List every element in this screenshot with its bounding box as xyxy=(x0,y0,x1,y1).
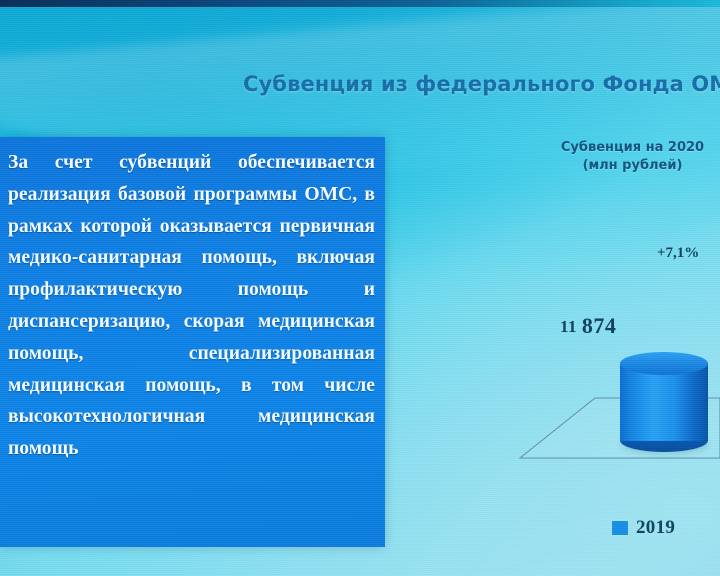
chart-bar-2019 xyxy=(620,352,708,448)
chart-legend: 2019 xyxy=(612,517,675,539)
text-panel-body: За счет субвенций обеспечивается реализа… xyxy=(8,147,375,465)
chart-value-thousands: 11 xyxy=(560,317,577,336)
chart-value-label: 11 874 xyxy=(560,313,616,339)
presentation-slide: Субвенция из федерального Фонда ОМ За сч… xyxy=(0,0,720,576)
chart-title-line2: (млн рублей) xyxy=(540,157,720,175)
text-panel: За счет субвенций обеспечивается реализа… xyxy=(0,137,385,547)
legend-swatch-2019 xyxy=(612,521,628,535)
chart-title: Субвенция на 2020 (млн рублей) xyxy=(540,139,720,175)
chart-bar-top xyxy=(620,352,708,375)
slide-title: Субвенция из федерального Фонда ОМ xyxy=(243,72,720,96)
chart-title-line1: Субвенция на 2020 xyxy=(561,140,704,155)
chart-value-remainder: 874 xyxy=(582,313,617,338)
chart-growth-annotation: +7,1% xyxy=(657,245,699,262)
screen-top-edge-bar xyxy=(0,0,720,7)
legend-label-2019: 2019 xyxy=(636,517,675,539)
